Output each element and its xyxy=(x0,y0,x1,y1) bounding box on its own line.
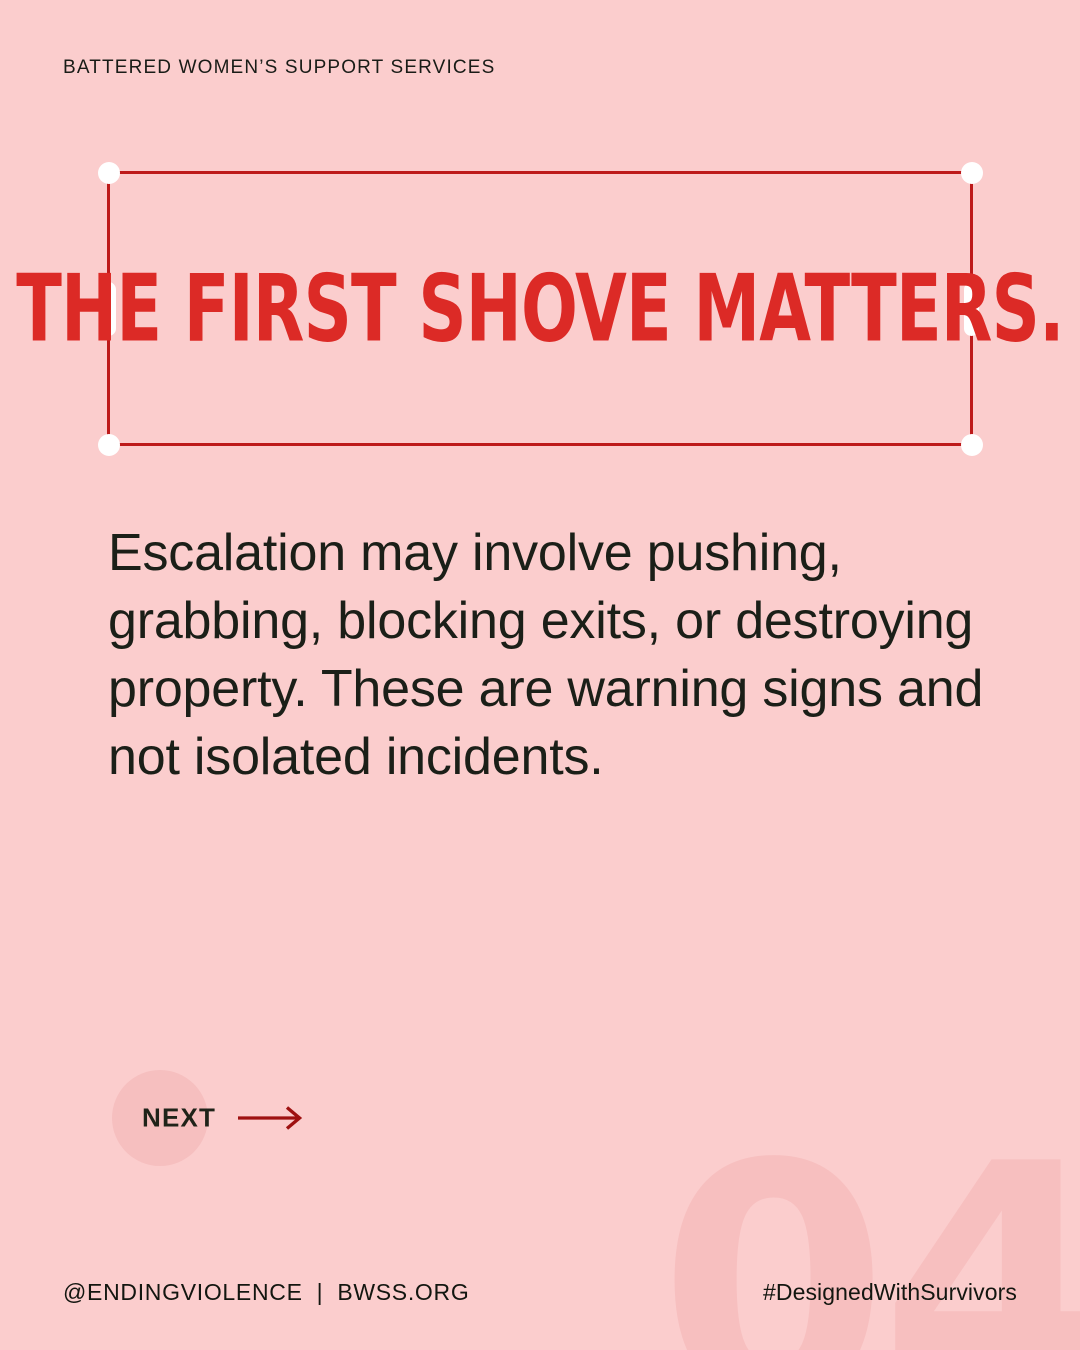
footer-left: @ENDINGVIOLENCE|BWSS.ORG xyxy=(63,1279,469,1306)
footer-separator: | xyxy=(303,1279,338,1305)
arrow-right-icon xyxy=(238,1105,306,1131)
next-button[interactable]: NEXT xyxy=(112,1070,342,1166)
resize-handle-bottom-right[interactable] xyxy=(961,434,983,456)
headline-selection-frame[interactable]: THE FIRST SHOVE MATTERS. xyxy=(107,171,973,446)
next-button-label: NEXT xyxy=(142,1103,216,1134)
slide-number-watermark: 04 xyxy=(659,1151,1080,1350)
slide-canvas: 04 BATTERED WOMEN’S SUPPORT SERVICES THE… xyxy=(0,0,1080,1350)
organization-name: BATTERED WOMEN’S SUPPORT SERVICES xyxy=(63,57,495,79)
social-handle: @ENDINGVIOLENCE xyxy=(63,1279,303,1305)
resize-handle-top-left[interactable] xyxy=(98,162,120,184)
website-url: BWSS.ORG xyxy=(337,1279,469,1305)
body-paragraph: Escalation may involve pushing, grabbing… xyxy=(108,519,988,791)
resize-handle-top-right[interactable] xyxy=(961,162,983,184)
resize-handle-bottom-left[interactable] xyxy=(98,434,120,456)
headline-text: THE FIRST SHOVE MATTERS. xyxy=(16,262,1063,355)
campaign-hashtag: #DesignedWithSurvivors xyxy=(763,1279,1017,1306)
